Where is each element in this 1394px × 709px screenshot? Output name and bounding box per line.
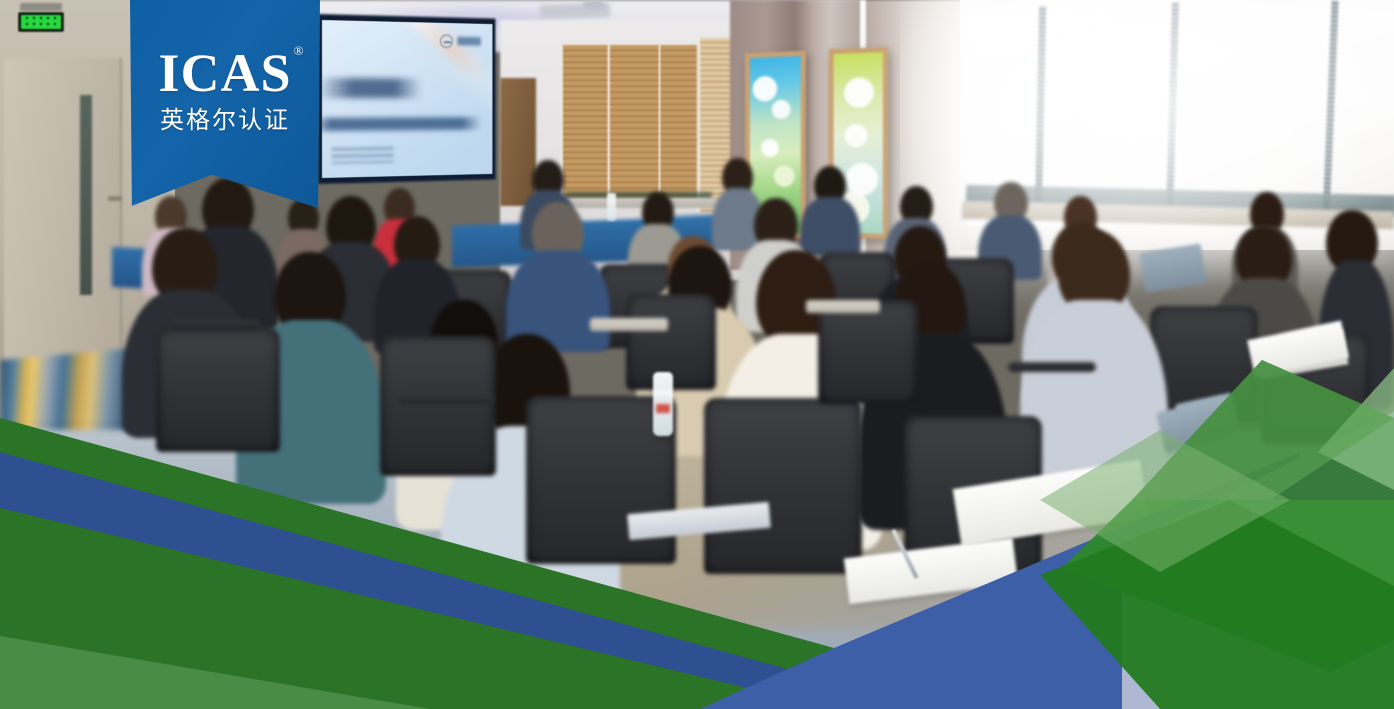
icas-logo-group: ICAS® 英格尔认证 bbox=[130, 0, 320, 208]
chair bbox=[704, 398, 862, 574]
door-handle bbox=[108, 196, 122, 201]
chair bbox=[156, 328, 280, 452]
water-bottle bbox=[653, 372, 673, 436]
icas-wordmark: ICAS® bbox=[158, 46, 291, 100]
chair bbox=[818, 300, 918, 404]
slide-logo-mark-icon bbox=[440, 34, 453, 48]
exit-sign-bracket bbox=[20, 3, 62, 11]
projection-screen bbox=[322, 20, 492, 178]
chair-armrest bbox=[398, 394, 494, 404]
room-door bbox=[4, 58, 122, 373]
door-vision-panel bbox=[80, 95, 92, 295]
slide-subheading bbox=[322, 117, 482, 131]
chair-armrest bbox=[1008, 362, 1096, 372]
exit-sign-icon bbox=[18, 12, 64, 32]
wooden-blinds-left bbox=[560, 42, 715, 202]
chair bbox=[380, 336, 496, 476]
chair-tablet-arm bbox=[590, 318, 668, 331]
icas-chinese-name: 英格尔认证 bbox=[160, 108, 290, 132]
smoke-detector-icon bbox=[583, 0, 605, 10]
icas-wordmark-text: ICAS bbox=[158, 43, 291, 103]
chair-armrest bbox=[170, 320, 260, 330]
slide-logo bbox=[440, 34, 482, 48]
registered-trademark-icon: ® bbox=[294, 44, 305, 57]
slide-heading bbox=[322, 78, 422, 98]
icas-logo-banner: ICAS® 英格尔认证 bbox=[130, 0, 320, 208]
chair-tablet-arm bbox=[806, 300, 880, 313]
slide-logo-wordmark bbox=[457, 37, 480, 46]
slide-footnote bbox=[332, 147, 394, 164]
banner-canvas: ICAS® 英格尔认证 bbox=[0, 0, 1394, 709]
